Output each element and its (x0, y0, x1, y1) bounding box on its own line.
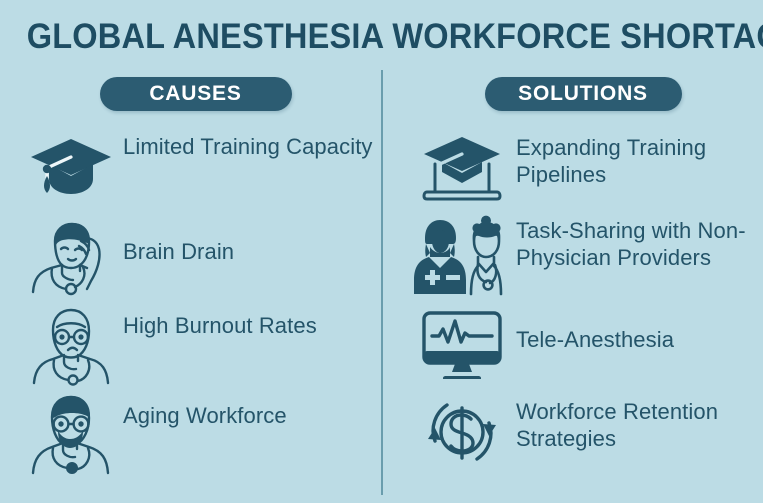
causes-badge-row: CAUSES (18, 77, 373, 111)
frowning-doctor-glasses-icon (18, 304, 123, 384)
graduation-cap-laptop-icon (408, 128, 516, 208)
stressed-doctor-icon (18, 216, 123, 296)
causes-item-list: Limited Training Capacity (18, 128, 373, 472)
list-item: High Burnout Rates (18, 304, 373, 384)
list-item-label: High Burnout Rates (123, 304, 373, 339)
solutions-badge: SOLUTIONS (485, 77, 682, 111)
monitor-ecg-icon (408, 304, 516, 384)
list-item-label: Task-Sharing with Non-Physician Provider… (516, 216, 758, 271)
list-item: Limited Training Capacity (18, 128, 373, 208)
column-divider (381, 70, 383, 495)
nurse-and-doctor-icon (408, 216, 516, 296)
infographic-poster: GLOBAL ANESTHESIA WORKFORCE SHORTAGE CAU… (0, 0, 763, 503)
list-item-label: Limited Training Capacity (123, 128, 373, 160)
graduation-cap-icon (18, 128, 123, 208)
list-item: Expanding Training Pipelines (408, 128, 758, 208)
list-item: Workforce Retention Strategies (408, 392, 758, 472)
solutions-item-list: Expanding Training Pipelines (408, 128, 758, 472)
bearded-doctor-icon (18, 392, 123, 472)
solutions-column: SOLUTIONS Expanding Training Pi (408, 77, 758, 480)
list-item: Task-Sharing with Non-Physician Provider… (408, 216, 758, 296)
list-item-label: Aging Workforce (123, 392, 373, 429)
list-item-label: Tele-Anesthesia (516, 304, 758, 353)
solutions-badge-row: SOLUTIONS (408, 77, 758, 111)
page-title: GLOBAL ANESTHESIA WORKFORCE SHORTAGE (27, 17, 737, 57)
list-item-label: Expanding Training Pipelines (516, 128, 758, 188)
list-item-label: Brain Drain (123, 216, 373, 265)
dollar-recycle-icon (408, 392, 516, 472)
list-item: Brain Drain (18, 216, 373, 296)
list-item: Aging Workforce (18, 392, 373, 472)
causes-badge: CAUSES (100, 77, 292, 111)
list-item-label: Workforce Retention Strategies (516, 392, 758, 452)
list-item: Tele-Anesthesia (408, 304, 758, 384)
causes-column: CAUSES Limited Training Capacit (18, 77, 373, 480)
